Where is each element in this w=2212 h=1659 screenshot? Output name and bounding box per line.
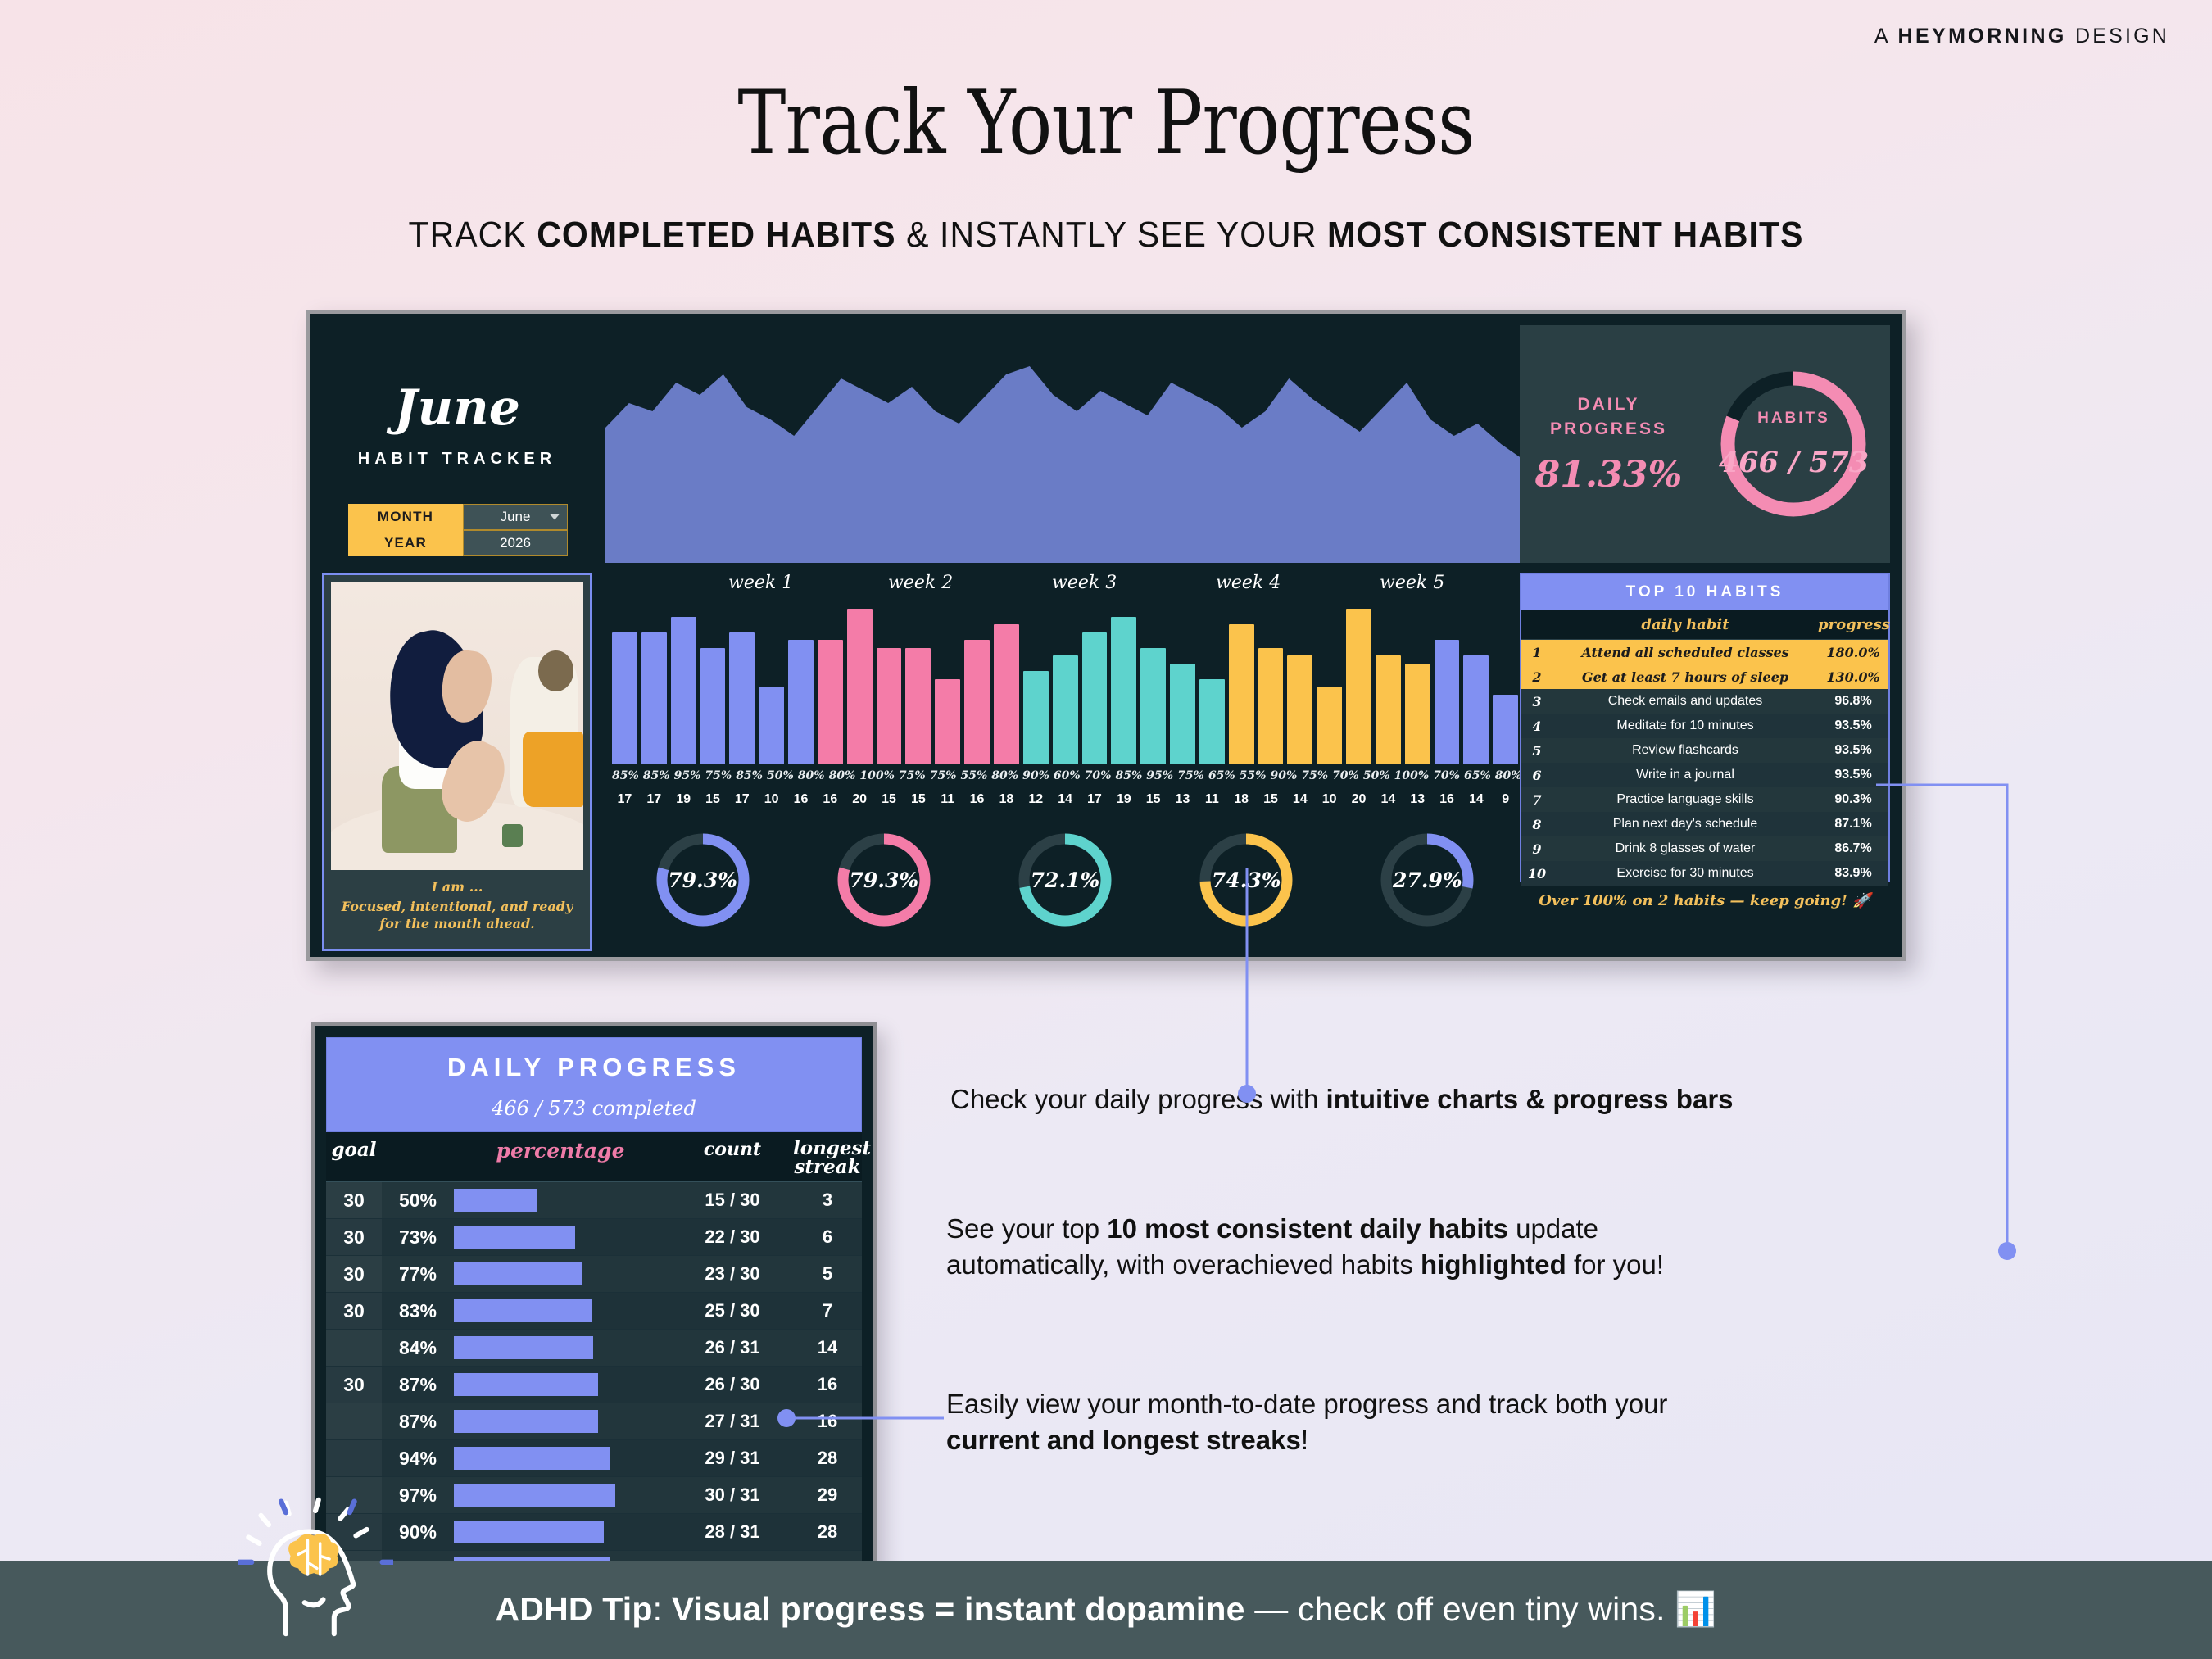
- week-donut-1: 79.3%: [651, 828, 755, 931]
- bar-percent-8: 80%: [829, 769, 856, 782]
- top10-progress: 86.7%: [1818, 841, 1888, 856]
- kpi-text-block: DAILY PROGRESS 81.33%: [1520, 392, 1698, 496]
- bar-percent-29: 80%: [1495, 769, 1522, 782]
- bar-count-1: 17: [612, 792, 637, 807]
- bar-count-22: 18: [1229, 792, 1254, 807]
- dashboard-screenshot: June HABIT TRACKER MONTH June YEAR 2026: [306, 310, 1906, 961]
- top10-progress: 180.0%: [1818, 645, 1888, 660]
- row-percent: 87%: [382, 1374, 454, 1396]
- bar-percent-27: 70%: [1433, 769, 1460, 782]
- brand-prefix: A: [1874, 25, 1890, 48]
- top10-habit: Plan next day's schedule: [1552, 817, 1818, 832]
- kpi-caption-line1: DAILY: [1577, 395, 1639, 414]
- daily-progress-row: 3087%26 / 3016: [326, 1367, 862, 1403]
- bar-count-11: 15: [905, 792, 931, 807]
- row-streak: 28: [793, 1521, 862, 1543]
- daily-progress-header: DAILY PROGRESS 466 / 573 completed: [326, 1037, 862, 1132]
- row-bar-fill: [454, 1226, 575, 1249]
- bar-day-18: [1111, 617, 1136, 765]
- row-streak: 6: [793, 1226, 862, 1248]
- daily-progress-row: 3077%23 / 305: [326, 1256, 862, 1293]
- bar-count-16: 14: [1053, 792, 1078, 807]
- daily-progress-row: 84%26 / 3114: [326, 1330, 862, 1367]
- kpi-caption: DAILY PROGRESS: [1520, 392, 1698, 441]
- callout3-text-b: current and longest streaks: [946, 1425, 1301, 1455]
- habits-value: 466 / 573: [1719, 446, 1869, 479]
- bar-count-6: 10: [759, 792, 784, 807]
- affirmation-text: Focused, intentional, and ready for the …: [342, 899, 573, 931]
- inspiration-photo: [331, 582, 583, 870]
- top10-habit: Check emails and updates: [1552, 694, 1818, 709]
- daily-progress-row: 3083%25 / 307: [326, 1293, 862, 1330]
- row-goal: 30: [326, 1256, 382, 1292]
- row-bar-fill: [454, 1373, 598, 1396]
- bar-count-2: 17: [641, 792, 667, 807]
- top10-rows: 1Attend all scheduled classes180.0%2Get …: [1521, 640, 1888, 886]
- top10-row: 8Plan next day's schedule87.1%: [1521, 812, 1888, 836]
- row-bar: [454, 1373, 672, 1396]
- brain-head-icon: [238, 1497, 393, 1652]
- bar-count-3: 19: [671, 792, 696, 807]
- top10-row: 1Attend all scheduled classes180.0%: [1521, 640, 1888, 664]
- top10-rank: 10: [1521, 866, 1552, 882]
- month-title: June: [322, 379, 592, 437]
- bar-percent-11: 75%: [930, 769, 957, 782]
- bar-percent-23: 75%: [1301, 769, 1328, 782]
- bar-day-12: [935, 679, 960, 765]
- month-year-selector: MONTH June YEAR 2026: [348, 504, 568, 556]
- week-donut-row: 79.3%79.3%72.1%74.3%27.9%: [612, 818, 1518, 941]
- week-donut-5: 27.9%: [1376, 828, 1479, 931]
- bar-percent-7: 80%: [798, 769, 825, 782]
- top10-rank: 2: [1521, 669, 1552, 685]
- bar-count-26: 20: [1346, 792, 1371, 807]
- week-labels: week 1week 2week 3week 4week 5: [605, 573, 1525, 601]
- top10-rank: 9: [1521, 841, 1552, 857]
- row-streak: 29: [793, 1484, 862, 1506]
- bar-percent-22: 90%: [1270, 769, 1297, 782]
- bar-percent-15: 60%: [1054, 769, 1081, 782]
- callout3-text-a: Easily view your month-to-date progress …: [946, 1389, 1667, 1419]
- daily-progress-row: 94%29 / 3128: [326, 1440, 862, 1477]
- month-label: MONTH: [348, 504, 463, 530]
- bar-percent-4: 75%: [705, 769, 732, 782]
- top10-rank: 5: [1521, 743, 1552, 759]
- top10-rank: 8: [1521, 817, 1552, 832]
- bar-percent-10: 75%: [899, 769, 926, 782]
- bar-percent-3: 95%: [674, 769, 701, 782]
- week-donut-label-1: 79.3%: [651, 828, 755, 931]
- kpi-ring-block: HABITS 466 / 573: [1698, 364, 1890, 524]
- top10-habit: Get at least 7 hours of sleep: [1552, 669, 1818, 685]
- row-bar-fill: [454, 1299, 592, 1322]
- top10-row: 10Exercise for 30 minutes83.9%: [1521, 861, 1888, 886]
- top10-row: 6Write in a journal93.5%: [1521, 763, 1888, 787]
- bar-percent-26: 100%: [1394, 769, 1430, 782]
- row-goal: [326, 1403, 382, 1439]
- callout2-text-b2: highlighted: [1421, 1249, 1566, 1280]
- bar-count-29: 16: [1435, 792, 1460, 807]
- daily-progress-columns: goal percentage count longest streak: [326, 1132, 862, 1182]
- daily-progress-completed: 466 / 573 completed: [327, 1097, 861, 1120]
- top10-progress: 83.9%: [1818, 866, 1888, 881]
- row-count: 29 / 31: [672, 1448, 793, 1469]
- subtitle-part-3: & INSTANTLY SEE YOUR: [896, 215, 1327, 255]
- callout-top-habits: See your top 10 most consistent daily ha…: [946, 1211, 1664, 1283]
- page-subtitle: TRACK COMPLETED HABITS & INSTANTLY SEE Y…: [78, 215, 2135, 256]
- year-input[interactable]: 2026: [463, 530, 568, 556]
- top-10-habits-table: TOP 10 HABITS daily habit progress 1Atte…: [1520, 573, 1890, 882]
- top10-progress: 93.5%: [1818, 768, 1888, 782]
- row-streak: 14: [793, 1337, 862, 1358]
- bar-count-19: 15: [1140, 792, 1166, 807]
- bar-percent-1: 85%: [612, 769, 639, 782]
- bar-day-27: [1376, 655, 1401, 764]
- row-percent: 84%: [382, 1337, 454, 1359]
- row-percent: 87%: [382, 1411, 454, 1433]
- bar-percent-25: 50%: [1363, 769, 1390, 782]
- bar-day-31: [1493, 695, 1518, 765]
- bar-day-9: [847, 609, 873, 764]
- bar-percent-16: 70%: [1085, 769, 1112, 782]
- top10-progress-header: progress: [1818, 616, 1888, 633]
- bar-count-28: 13: [1405, 792, 1430, 807]
- kpi-caption-line2: PROGRESS: [1550, 419, 1667, 438]
- callout3-text-c: !: [1301, 1425, 1308, 1455]
- bar-count-13: 16: [964, 792, 990, 807]
- row-percent: 50%: [382, 1190, 454, 1212]
- row-bar: [454, 1226, 672, 1249]
- weekly-bar-chart: week 1week 2week 3week 4week 5 85%85%95%…: [605, 573, 1525, 951]
- bar-day-3: [671, 617, 696, 765]
- callout2-text-a2: automatically, with overachieved habits: [946, 1249, 1421, 1280]
- bar-day-23: [1258, 648, 1284, 765]
- bar-percent-2: 85%: [643, 769, 670, 782]
- daily-progress-row: 3050%15 / 303: [326, 1182, 862, 1219]
- top10-habit: Practice language skills: [1552, 792, 1818, 807]
- bar-count-labels: 1717191517101616201515111618121417191513…: [612, 792, 1518, 807]
- top10-rank: 7: [1521, 792, 1552, 808]
- footer-sep: :: [653, 1590, 672, 1628]
- top10-habit: Drink 8 glasses of water: [1552, 841, 1818, 856]
- page-title: Track Your Progress: [199, 72, 2013, 175]
- brand-name: HEYMORNING: [1898, 25, 2067, 48]
- bar-percent-14: 90%: [1022, 769, 1049, 782]
- bar-count-10: 15: [877, 792, 902, 807]
- daily-progress-row: 90%28 / 3128: [326, 1514, 862, 1551]
- footer-tip-text: ADHD Tip: Visual progress = instant dopa…: [495, 1590, 1716, 1630]
- top10-row: 5Review flashcards93.5%: [1521, 738, 1888, 763]
- footer-rest: — check off even tiny wins. 📊: [1245, 1590, 1717, 1628]
- area-chart-svg: [605, 325, 1525, 563]
- bar-count-18: 19: [1111, 792, 1136, 807]
- bar-day-21: [1199, 679, 1225, 765]
- top10-habit: Write in a journal: [1552, 768, 1818, 782]
- footer-bold-2: Visual progress = instant dopamine: [672, 1590, 1245, 1628]
- row-count: 30 / 31: [672, 1484, 793, 1506]
- top10-progress: 93.5%: [1818, 718, 1888, 733]
- row-streak: 28: [793, 1448, 862, 1469]
- bar-percent-18: 95%: [1146, 769, 1173, 782]
- bar-count-8: 16: [818, 792, 843, 807]
- row-count: 28 / 31: [672, 1521, 793, 1543]
- col-longest-streak: longest streak: [793, 1139, 862, 1176]
- brand-suffix: DESIGN: [2075, 25, 2169, 48]
- week-donut-3: 72.1%: [1013, 828, 1117, 931]
- bar-count-27: 14: [1376, 792, 1401, 807]
- row-percent: 73%: [382, 1226, 454, 1249]
- month-dropdown[interactable]: June: [463, 504, 568, 530]
- affirmation: I am ... Focused, intentional, and ready…: [331, 878, 583, 932]
- top10-habit-header: daily habit: [1552, 616, 1818, 633]
- top10-progress: 96.8%: [1818, 694, 1888, 709]
- top10-row: 4Meditate for 10 minutes93.5%: [1521, 714, 1888, 738]
- row-bar-fill: [454, 1262, 582, 1285]
- daily-progress-row: 3073%22 / 306: [326, 1219, 862, 1256]
- week-donut-label-3: 72.1%: [1013, 828, 1117, 931]
- bar-percent-21: 55%: [1240, 769, 1267, 782]
- bar-day-8: [818, 640, 843, 764]
- callout-streaks: Easily view your month-to-date progress …: [946, 1386, 1667, 1458]
- area-series: [605, 366, 1525, 563]
- chevron-down-icon[interactable]: [550, 514, 560, 520]
- bar-percent-20: 65%: [1208, 769, 1235, 782]
- bar-count-5: 17: [729, 792, 755, 807]
- row-streak: 5: [793, 1263, 862, 1285]
- row-count: 22 / 30: [672, 1226, 793, 1248]
- bar-day-19: [1140, 648, 1166, 765]
- bar-day-17: [1082, 632, 1108, 765]
- bar-day-11: [905, 648, 931, 765]
- row-count: 23 / 30: [672, 1263, 793, 1285]
- year-value: 2026: [500, 535, 531, 551]
- top10-progress: 87.1%: [1818, 817, 1888, 832]
- bar-count-4: 15: [700, 792, 726, 807]
- affirmation-lead: I am ...: [331, 878, 583, 895]
- col-count: count: [672, 1139, 793, 1176]
- top10-title: TOP 10 HABITS: [1521, 574, 1888, 610]
- row-bar-fill: [454, 1410, 598, 1433]
- row-bar-fill: [454, 1484, 615, 1507]
- top10-row: 3Check emails and updates96.8%: [1521, 689, 1888, 714]
- row-streak: 16: [793, 1374, 862, 1395]
- week-donut-label-5: 27.9%: [1376, 828, 1479, 931]
- bar-count-21: 11: [1199, 792, 1225, 807]
- bar-count-20: 13: [1170, 792, 1195, 807]
- row-count: 15 / 30: [672, 1190, 793, 1211]
- top10-progress: 90.3%: [1818, 792, 1888, 807]
- row-percent: 94%: [382, 1448, 454, 1470]
- habits-label: HABITS: [1757, 410, 1830, 428]
- bar-count-14: 18: [994, 792, 1019, 807]
- top10-habit: Meditate for 10 minutes: [1552, 718, 1818, 733]
- bar-percent-13: 80%: [991, 769, 1018, 782]
- top10-rank: 4: [1521, 718, 1552, 734]
- row-count: 26 / 31: [672, 1337, 793, 1358]
- subtitle-part-4: MOST CONSISTENT HABITS: [1327, 215, 1804, 255]
- row-percent: 77%: [382, 1263, 454, 1285]
- callout-charts: Check your daily progress with intuitive…: [950, 1081, 1734, 1117]
- col-goal: goal: [326, 1139, 382, 1161]
- top10-rank: 1: [1521, 645, 1552, 660]
- row-bar: [454, 1447, 672, 1470]
- week-label-4: week 4: [1216, 573, 1281, 593]
- top10-row: 9Drink 8 glasses of water86.7%: [1521, 836, 1888, 861]
- callout1-text-b: intuitive charts & progress bars: [1326, 1084, 1734, 1114]
- bar-count-17: 17: [1082, 792, 1108, 807]
- footer-bold-1: ADHD Tip: [495, 1590, 652, 1628]
- top10-progress: 93.5%: [1818, 743, 1888, 758]
- bar-day-1: [612, 632, 637, 765]
- bar-count-23: 15: [1258, 792, 1284, 807]
- bar-day-25: [1317, 687, 1342, 764]
- month-row: MONTH June: [348, 504, 568, 530]
- row-goal: 30: [326, 1219, 382, 1255]
- top10-note: Over 100% on 2 habits — keep going! 🚀: [1520, 892, 1890, 909]
- row-streak: 7: [793, 1300, 862, 1321]
- daily-progress-row: 87%27 / 3116: [326, 1403, 862, 1440]
- bar-day-20: [1170, 664, 1195, 765]
- bar-count-15: 12: [1023, 792, 1049, 807]
- row-bar-fill: [454, 1189, 537, 1212]
- row-goal: [326, 1330, 382, 1366]
- callout1-text-a: Check your daily progress with: [950, 1084, 1326, 1114]
- week-donut-4: 74.3%: [1194, 828, 1298, 931]
- bar-percent-9: 100%: [859, 769, 895, 782]
- bar-day-7: [788, 640, 814, 764]
- row-bar: [454, 1299, 672, 1322]
- month-panel: June HABIT TRACKER MONTH June YEAR 2026: [322, 325, 592, 563]
- bar-day-28: [1405, 664, 1430, 765]
- row-streak: 16: [793, 1411, 862, 1432]
- bar-percent-17: 85%: [1115, 769, 1142, 782]
- top10-habit: Review flashcards: [1552, 743, 1818, 758]
- row-streak: 3: [793, 1190, 862, 1211]
- week-donut-label-2: 79.3%: [832, 828, 936, 931]
- row-goal: [326, 1440, 382, 1476]
- bar-percent-19: 75%: [1177, 769, 1204, 782]
- row-bar-fill: [454, 1336, 593, 1359]
- bar-day-6: [759, 687, 784, 764]
- bar-day-5: [729, 632, 755, 765]
- row-percent: 83%: [382, 1300, 454, 1322]
- week-donut-label-4: 74.3%: [1194, 828, 1298, 931]
- bar-day-4: [700, 648, 726, 765]
- bar-day-30: [1463, 655, 1489, 764]
- top10-row: 7Practice language skills90.3%: [1521, 787, 1888, 812]
- row-bar: [454, 1521, 672, 1543]
- top10-row: 2Get at least 7 hours of sleep130.0%: [1521, 664, 1888, 689]
- row-bar-fill: [454, 1447, 610, 1470]
- year-row: YEAR 2026: [348, 530, 568, 556]
- bar-series: [612, 604, 1518, 764]
- row-goal: 30: [326, 1367, 382, 1403]
- bar-day-10: [877, 648, 902, 765]
- col-percentage: percentage: [454, 1139, 672, 1176]
- bar-count-30: 14: [1463, 792, 1489, 807]
- bar-count-9: 20: [847, 792, 873, 807]
- month-value: June: [501, 509, 531, 525]
- subtitle-part-1: TRACK: [408, 215, 537, 255]
- top10-rank-header: [1521, 616, 1552, 633]
- callout2-text-c: update: [1508, 1213, 1598, 1244]
- top10-rank: 6: [1521, 768, 1552, 783]
- bar-percent-24: 70%: [1332, 769, 1359, 782]
- bar-percent-labels: 85%85%95%75%85%50%80%80%100%75%75%55%80%…: [612, 769, 1518, 782]
- row-bar: [454, 1336, 672, 1359]
- bar-day-29: [1435, 640, 1460, 764]
- col-streak: streak: [794, 1156, 860, 1178]
- bar-day-15: [1023, 671, 1049, 764]
- row-bar-fill: [454, 1521, 604, 1543]
- monthly-trend-area-chart: [605, 325, 1525, 563]
- bar-day-13: [964, 640, 990, 764]
- top10-progress: 130.0%: [1818, 669, 1888, 685]
- bar-percent-6: 50%: [767, 769, 794, 782]
- bar-count-12: 11: [935, 792, 960, 807]
- bar-count-31: 9: [1493, 792, 1518, 807]
- daily-progress-rows: 3050%15 / 3033073%22 / 3063077%23 / 3053…: [326, 1182, 862, 1588]
- row-count: 25 / 30: [672, 1300, 793, 1321]
- bar-day-22: [1229, 624, 1254, 764]
- row-bar: [454, 1189, 672, 1212]
- photo-affirmation-card: I am ... Focused, intentional, and ready…: [322, 573, 592, 951]
- callout2-text-c2: for you!: [1566, 1249, 1664, 1280]
- bar-percent-12: 55%: [961, 769, 988, 782]
- habits-donut: HABITS 466 / 573: [1713, 364, 1874, 524]
- week-label-1: week 1: [728, 573, 793, 593]
- row-bar: [454, 1410, 672, 1433]
- bar-day-26: [1346, 609, 1371, 764]
- kpi-percent-value: 81.33%: [1520, 454, 1698, 496]
- bar-day-2: [641, 632, 667, 765]
- bar-count-24: 14: [1287, 792, 1312, 807]
- week-donut-2: 79.3%: [832, 828, 936, 931]
- tracker-subtitle: HABIT TRACKER: [322, 450, 592, 469]
- callout2-text-a: See your top: [946, 1213, 1107, 1244]
- subtitle-part-2: COMPLETED HABITS: [537, 215, 895, 255]
- bar-count-25: 10: [1317, 792, 1342, 807]
- bar-day-14: [994, 624, 1019, 764]
- bar-count-7: 16: [788, 792, 814, 807]
- top10-rank: 3: [1521, 694, 1552, 709]
- row-bar: [454, 1484, 672, 1507]
- bar-day-24: [1287, 655, 1312, 764]
- bar-percent-28: 65%: [1464, 769, 1491, 782]
- row-goal: 30: [326, 1293, 382, 1329]
- row-count: 26 / 30: [672, 1374, 793, 1395]
- year-label: YEAR: [348, 530, 463, 556]
- row-bar: [454, 1262, 672, 1285]
- daily-progress-kpi: DAILY PROGRESS 81.33% HABITS 466 / 573: [1520, 325, 1890, 563]
- week-label-2: week 2: [888, 573, 953, 593]
- bar-day-16: [1053, 655, 1078, 764]
- top10-habit: Exercise for 30 minutes: [1552, 866, 1818, 881]
- bar-percent-5: 85%: [736, 769, 763, 782]
- week-label-5: week 5: [1380, 573, 1444, 593]
- week-label-3: week 3: [1052, 573, 1117, 593]
- top10-column-headers: daily habit progress: [1521, 610, 1888, 640]
- daily-progress-title: DAILY PROGRESS: [327, 1053, 861, 1082]
- brand-credit: A HEYMORNING DESIGN: [1874, 25, 2169, 48]
- row-goal: 30: [326, 1182, 382, 1218]
- top10-habit: Attend all scheduled classes: [1552, 645, 1818, 660]
- callout2-text-b: 10 most consistent daily habits: [1107, 1213, 1508, 1244]
- daily-progress-row: 97%30 / 3129: [326, 1477, 862, 1514]
- row-count: 27 / 31: [672, 1411, 793, 1432]
